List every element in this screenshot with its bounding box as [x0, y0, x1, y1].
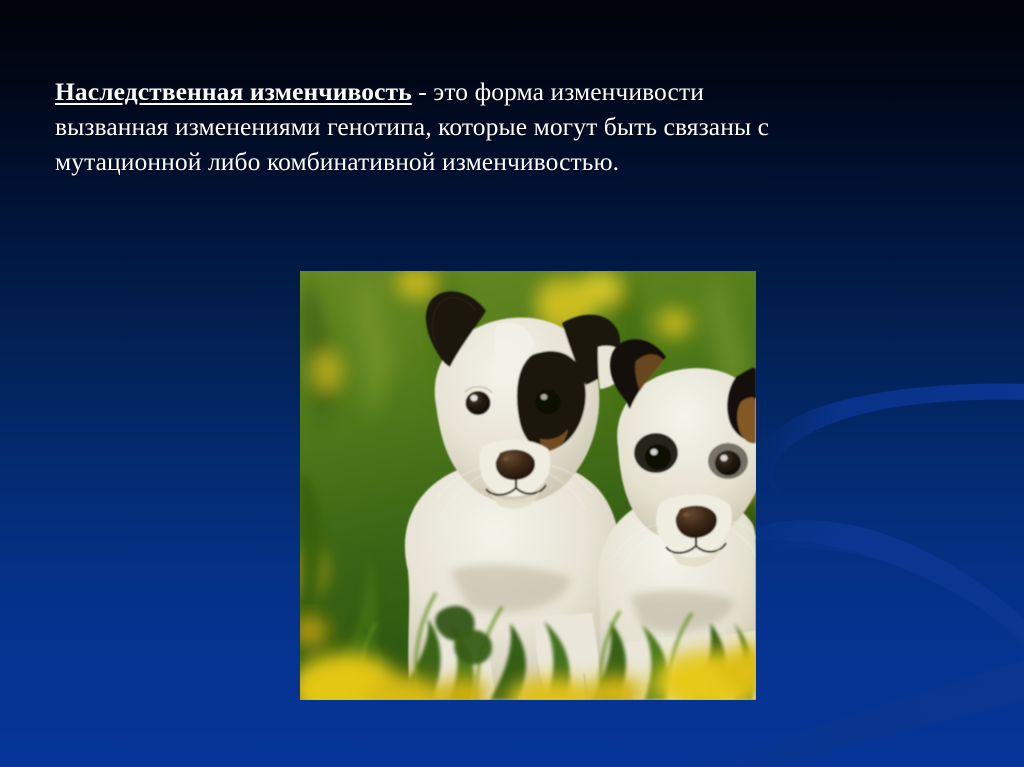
slide-body-text: Наследственная изменчивость - это форма … [55, 74, 845, 179]
line-1-remainder: - это форма изменчивости [412, 77, 704, 106]
body-line-1: Наследственная изменчивость - это форма … [55, 74, 845, 109]
swoosh-faint-left [820, 676, 1024, 752]
puppies-photo [300, 271, 756, 700]
body-line-2: вызванная изменениями генотипа, которые … [55, 109, 845, 144]
photo-frame [300, 271, 756, 700]
swoosh-middle [716, 520, 1024, 648]
swoosh-upper [758, 384, 1024, 492]
body-line-3: мутационной либо комбинативной изменчиво… [55, 144, 845, 179]
lead-term: Наследственная изменчивость [55, 77, 412, 106]
presentation-slide: Наследственная изменчивость - это форма … [0, 0, 1024, 767]
